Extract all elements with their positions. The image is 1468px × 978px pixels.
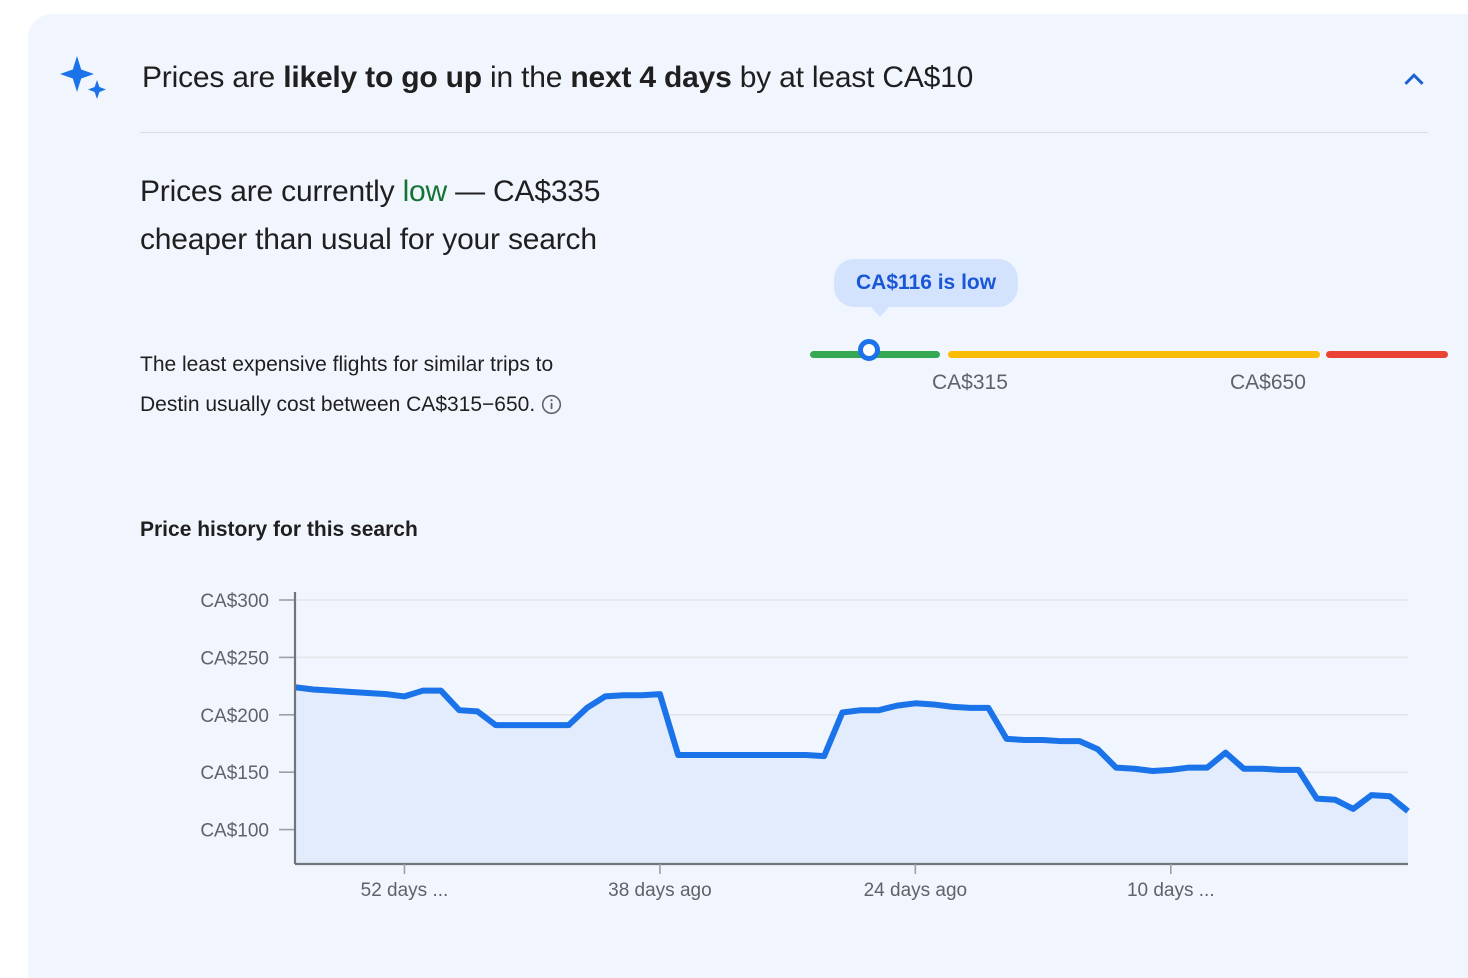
summary-low-word: low <box>403 175 447 208</box>
gauge-tick-high: CA$650 <box>1230 371 1306 395</box>
x-axis-tick-label: 24 days ago <box>864 880 968 901</box>
gauge-tick-low: CA$315 <box>932 371 1008 395</box>
gauge-segment-high <box>1326 351 1448 358</box>
price-history-chart: CA$300CA$250CA$200CA$150CA$10052 days ..… <box>140 564 1430 964</box>
info-icon[interactable] <box>541 389 562 410</box>
x-axis-tick-label: 38 days ago <box>608 880 712 901</box>
gauge-segment-typical <box>948 351 1320 358</box>
chevron-up-icon <box>1399 64 1429 97</box>
y-axis-labels <box>140 564 248 904</box>
summary-lead-1: Prices are currently <box>140 175 403 208</box>
page-title: Prices are likely to go up in the next 4… <box>142 58 1322 98</box>
price-summary-detail: The least expensive flights for similar … <box>140 345 610 425</box>
chart-title: Price history for this search <box>140 518 418 542</box>
price-gauge: CA$116 is low CA$315 CA$650 <box>780 259 1440 404</box>
summary-detail-text: The least expensive flights for similar … <box>140 353 553 416</box>
headline-part-2: in the <box>482 61 570 94</box>
headline-part-3: by at least CA$10 <box>732 61 974 94</box>
collapse-button[interactable] <box>1390 56 1438 104</box>
card-header: Prices are likely to go up in the next 4… <box>28 14 1468 130</box>
header-divider <box>140 132 1428 133</box>
chart-plot: CA$300CA$250CA$200CA$150CA$10052 days ..… <box>140 564 1430 909</box>
price-summary-headline: Prices are currently low — CA$335 cheape… <box>140 168 700 264</box>
headline-emphasis-1: likely to go up <box>283 61 482 94</box>
headline-part-1: Prices are <box>142 61 283 94</box>
price-insights-card: Prices are likely to go up in the next 4… <box>28 14 1468 978</box>
gauge-thumb[interactable] <box>858 339 880 361</box>
sparkle-icon <box>56 50 112 106</box>
x-axis-tick-label: 52 days ... <box>361 880 449 901</box>
x-axis-tick-label: 10 days ... <box>1127 880 1215 901</box>
gauge-tooltip: CA$116 is low <box>834 259 1018 307</box>
headline-emphasis-2: next 4 days <box>570 61 731 94</box>
